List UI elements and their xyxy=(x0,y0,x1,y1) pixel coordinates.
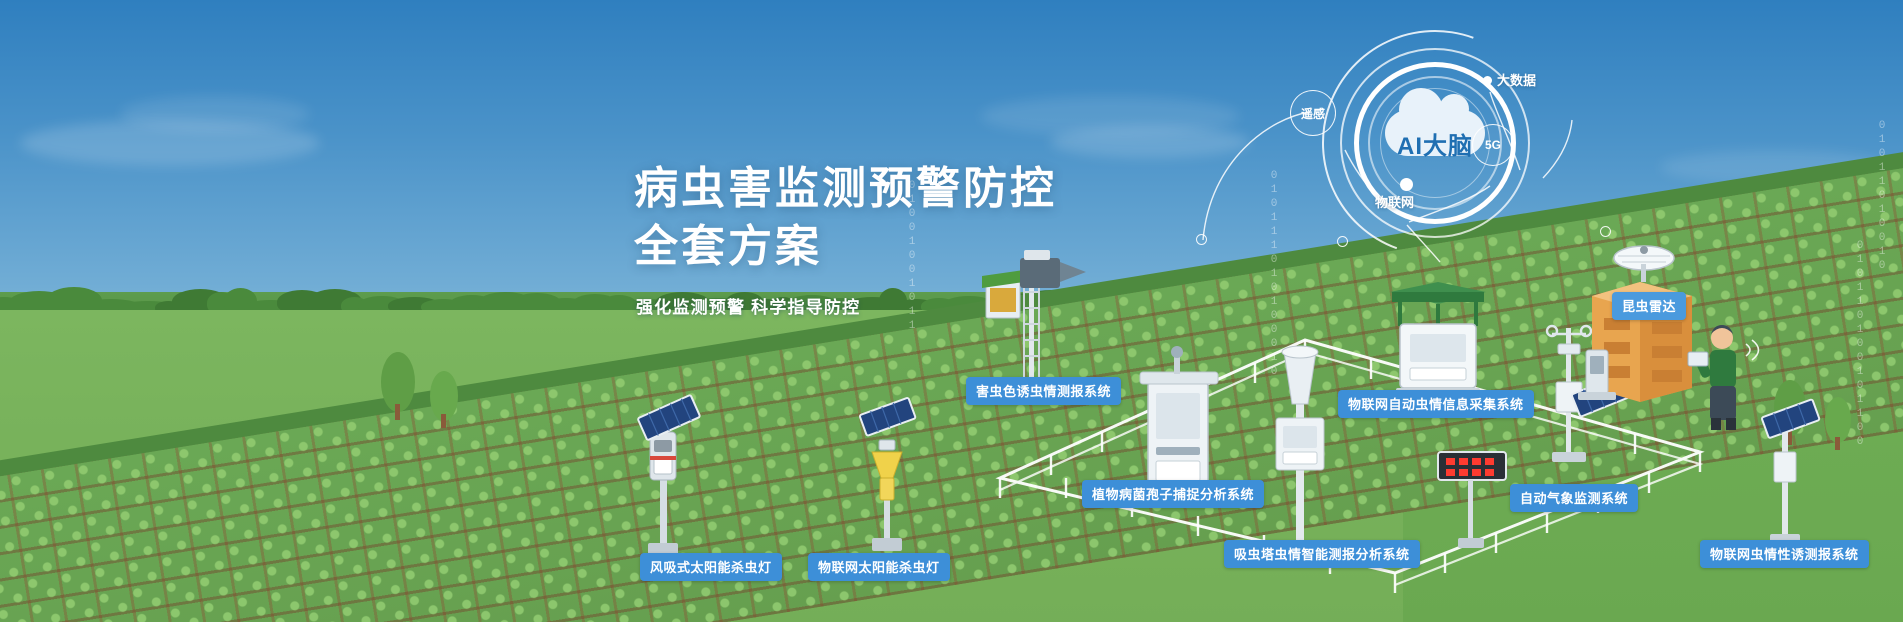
brain-node-remote-sensing[interactable]: 遥感 xyxy=(1290,90,1336,136)
brain-node-iot-dot xyxy=(1400,178,1413,191)
cloud-shape xyxy=(120,96,310,132)
brain-node-iot-label: 物联网 xyxy=(1375,192,1414,211)
page-title-line-1: 病虫害监测预警防控 xyxy=(634,160,1057,218)
brain-node-bigdata-label: 大数据 xyxy=(1497,70,1536,89)
connector-endpoint xyxy=(1196,234,1207,245)
label-iot-pest-collection-system[interactable]: 物联网自动虫情信息采集系统 xyxy=(1338,390,1534,418)
connector-endpoint xyxy=(1337,236,1348,247)
label-color-lure-system[interactable]: 害虫色诱虫情测报系统 xyxy=(966,377,1121,405)
cloud-shape xyxy=(1050,126,1250,158)
page-title: 病虫害监测预警防控 全套方案 xyxy=(634,160,1057,276)
brain-node-bigdata-dot xyxy=(1483,76,1492,85)
page-subtitle: 强化监测预警 科学指导防控 xyxy=(636,293,860,318)
hero-banner: 01001001011 010111010100010 010110100101… xyxy=(0,0,1903,622)
brain-node-label: 遥感 xyxy=(1301,105,1325,122)
label-pheromone-reporting-system[interactable]: 物联网虫情性诱测报系统 xyxy=(1700,540,1869,568)
ai-brain-label: AI大脑 xyxy=(1340,126,1530,161)
page-title-line-2: 全套方案 xyxy=(634,218,1057,276)
connector-endpoint xyxy=(1600,226,1611,237)
label-weather-monitoring-system[interactable]: 自动气象监测系统 xyxy=(1510,484,1638,512)
label-wind-solar-insect-lamp[interactable]: 风吸式太阳能杀虫灯 xyxy=(640,553,782,581)
label-iot-solar-insect-lamp[interactable]: 物联网太阳能杀虫灯 xyxy=(808,553,950,581)
binary-decor: 010110100101100 xyxy=(1854,240,1866,450)
binary-decor: 01011010010 xyxy=(1876,120,1888,274)
binary-decor: 010111010100010 xyxy=(1268,170,1280,380)
label-insect-radar[interactable]: 昆虫雷达 xyxy=(1612,292,1686,320)
label-suction-tower-system[interactable]: 吸虫塔虫情智能测报分析系统 xyxy=(1224,540,1420,568)
label-spore-capture-system[interactable]: 植物病菌孢子捕捉分析系统 xyxy=(1082,480,1264,508)
